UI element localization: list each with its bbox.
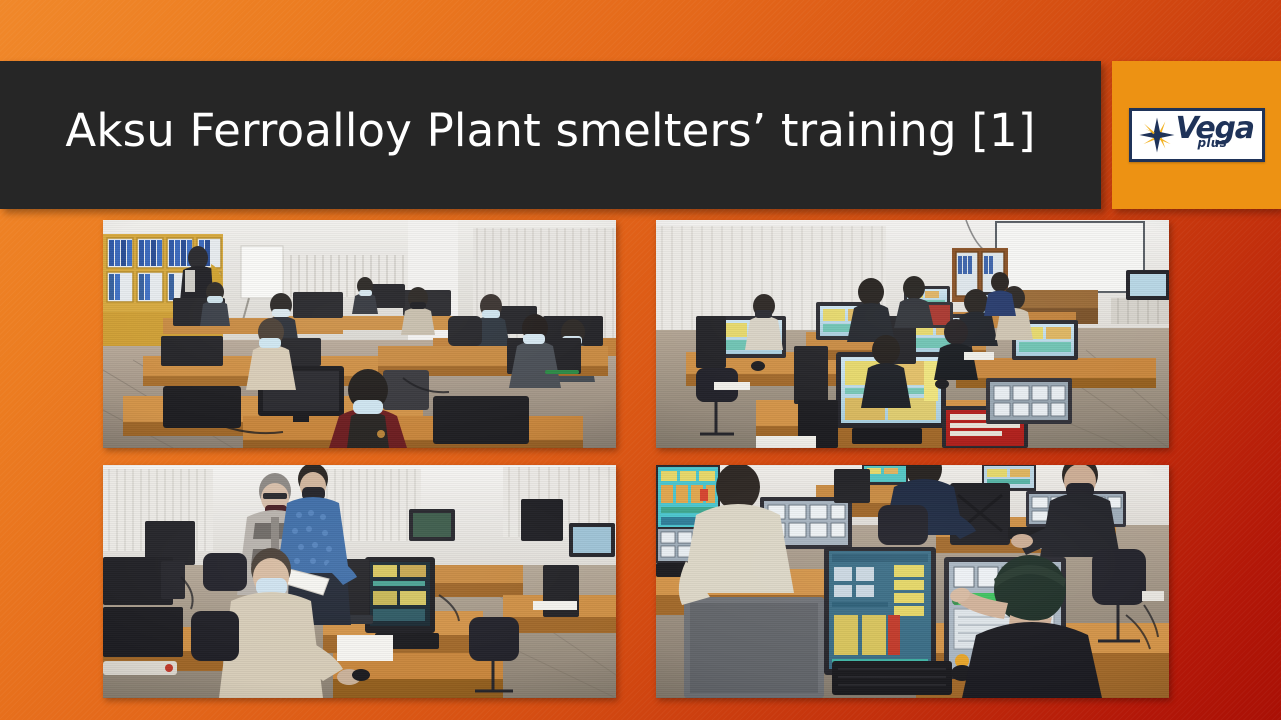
photo-bottom-left <box>103 465 616 698</box>
vega-plus-logo: Vega plus <box>1129 108 1265 162</box>
photo-bottom-right <box>656 465 1169 698</box>
logo-panel: Vega plus <box>1112 61 1281 209</box>
photo-grid <box>103 220 1169 698</box>
slide-title-bar: Aksu Ferroalloy Plant smelters’ training… <box>0 61 1101 209</box>
logo-wordmark: Vega plus <box>1176 114 1258 156</box>
logo-brand-sub: plus <box>1198 137 1228 149</box>
slide: Aksu Ferroalloy Plant smelters’ training… <box>0 0 1281 720</box>
photo-top-right <box>656 220 1169 448</box>
photo-top-left <box>103 220 616 448</box>
four-point-star-icon <box>1138 116 1176 154</box>
slide-title: Aksu Ferroalloy Plant smelters’ training… <box>65 107 1035 154</box>
